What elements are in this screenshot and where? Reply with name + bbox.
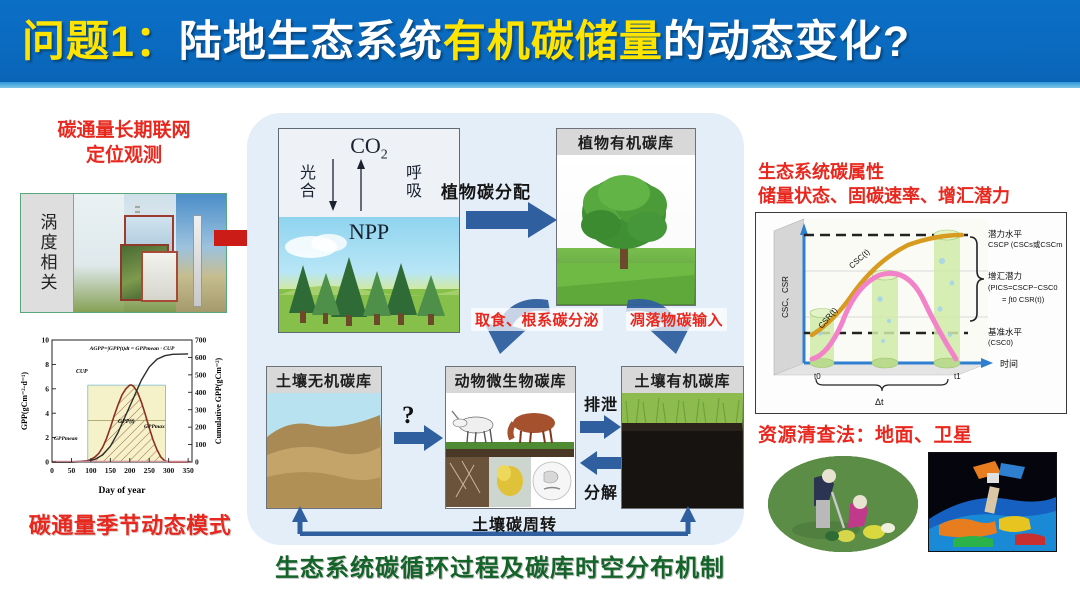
gpp-annot-cup: CUP [76, 369, 88, 375]
page-title: 问题1：陆地生态系统有机碳储量的动态变化? [22, 12, 1062, 74]
carbon-attributes-line2: 储量状态、固碳速率、增汇潜力 [758, 184, 1078, 208]
svg-text:300: 300 [195, 405, 207, 414]
csc-csr-svg: 潜力水平 CSCP (CSCs或CSCmax) 增汇潜力 (PICS=CSCP−… [756, 213, 1063, 410]
sink-potential-label-3: = ∫t0 CSR(t)) [1002, 295, 1045, 304]
plant-allocation-arrow [466, 200, 558, 240]
base-level-label-2: (CSC0) [988, 338, 1014, 347]
carbon-attributes-line1: 生态系统碳属性 [758, 160, 1078, 184]
svg-text:0: 0 [45, 458, 49, 467]
flux-tower-mast-2 [193, 215, 202, 307]
title-part-4: 的动态变化? [663, 18, 910, 66]
excretion-label: 排泄 [584, 391, 618, 415]
soil-inorganic-carbon-pool-box: 土壤无机碳库 [266, 366, 382, 509]
eddy-caption-text: 涡度相关 [35, 213, 60, 293]
resource-inventory-heading: 资源清查法：地面、卫星 [758, 420, 1078, 447]
gpp-annot-gppt: GPP(t) [118, 418, 135, 425]
litter-input-label: 凋落物碳输入 [626, 308, 727, 331]
eddy-photo-collage [74, 194, 226, 312]
soil-organic-carbon-pool-box: 土壤有机碳库 [621, 366, 744, 509]
svg-text:350: 350 [182, 466, 194, 475]
respiration-label: 呼吸 [403, 165, 425, 201]
gpp-y2label: Cumulative GPP(gCm⁻²) [214, 357, 223, 444]
satellite-illustration [929, 453, 1056, 551]
t1-label: t1 [954, 372, 961, 381]
grazing-root-exudation-label: 取食、根系碳分泌 [471, 308, 603, 331]
grass-soil-illustration [622, 393, 742, 507]
npp-label: NPP [279, 219, 459, 245]
gpp-xlabel: Day of year [99, 486, 147, 496]
animal-microbe-caption: 动物微生物碳库 [446, 367, 575, 394]
gpp-equation: AGPP=∫GPP(t)dt = GPPmean · CUP [89, 345, 175, 352]
arid-soil-illustration [267, 393, 380, 507]
svg-text:200: 200 [195, 423, 207, 432]
svg-text:10: 10 [42, 336, 50, 345]
npp-box: CO2 光合 呼吸 [278, 128, 460, 333]
field-survey-illustration [768, 456, 918, 552]
svg-text:0: 0 [195, 458, 199, 467]
time-axis-label: 时间 [1000, 358, 1018, 369]
tree-illustration [557, 155, 694, 304]
soil-organic-image [622, 393, 743, 508]
eddy-covariance-photo: 涡度相关 [20, 193, 227, 313]
title-part-1: 问题1： [22, 18, 179, 66]
grazing-root-exudation-arrow [478, 292, 556, 370]
soil-organic-caption: 土壤有机碳库 [622, 367, 743, 394]
sink-potential-label-2: (PICS=CSCP−CSC0 [988, 283, 1058, 292]
svg-text:2: 2 [45, 433, 49, 442]
carbon-cycle-caption: 生态系统碳循环过程及碳库时空分布机制 [250, 548, 750, 583]
gpp-annot-gppmax: GPPmax [144, 424, 165, 430]
base-level-label-1: 基准水平 [988, 327, 1023, 337]
title-part-2: 陆地生态系统 [179, 18, 443, 66]
flux-seasonal-caption: 碳通量季节动态模式 [14, 508, 246, 540]
svg-text:400: 400 [195, 388, 207, 397]
gpp-chart-svg: 0501001502002503003500246810010020030040… [14, 330, 236, 502]
potential-level-label-1: 潜力水平 [988, 229, 1023, 239]
decomposition-arrow [580, 450, 622, 476]
carbon-attributes-heading: 生态系统碳属性 储量状态、固碳速率、增汇潜力 [758, 160, 1078, 208]
csc-csr-3d-figure: 潜力水平 CSCP (CSCs或CSCmax) 增汇潜力 (PICS=CSCP−… [755, 212, 1067, 414]
tower-panel-left [74, 194, 124, 312]
title-part-3: 有机碳储量 [443, 18, 663, 66]
photo-inset-sensor [141, 251, 178, 302]
plant-box-caption: 植物有机碳库 [557, 129, 695, 156]
npp-exchange-arrows [319, 157, 385, 213]
npp-box-top: CO2 光合 呼吸 [279, 129, 459, 217]
eddy-caption-strip: 涡度相关 [21, 194, 74, 312]
flux-heading-line2: 定位观测 [24, 143, 224, 168]
t0-label: t0 [814, 372, 821, 381]
animal-microbe-image [446, 393, 575, 508]
sink-potential-label-1: 增汇潜力 [988, 271, 1022, 281]
header-underline [0, 82, 1080, 88]
svg-text:300: 300 [163, 466, 175, 475]
question-mark-label: ? [402, 402, 415, 430]
gpp-seasonal-chart: 0501001502002503003500246810010020030040… [14, 330, 236, 502]
svg-text:8: 8 [45, 360, 49, 369]
animal-microbe-carbon-pool-box: 动物微生物碳库 [445, 366, 576, 509]
fauna-microbe-illustration [446, 393, 574, 507]
svg-text:600: 600 [195, 353, 207, 362]
svg-text:100: 100 [85, 466, 97, 475]
svg-text:50: 50 [68, 466, 76, 475]
photosynthesis-label: 光合 [297, 165, 319, 201]
gpp-annot-gppmean: GPPmean [54, 436, 78, 442]
field-survey-photo [768, 456, 918, 552]
soil-carbon-turnover-label: 土壤碳周转 [472, 511, 557, 535]
soil-inorganic-image [267, 393, 381, 508]
soil-inorganic-caption: 土壤无机碳库 [267, 367, 381, 394]
gpp-ylabel: GPP(gCm⁻²·d⁻¹) [20, 372, 29, 430]
svg-text:200: 200 [124, 466, 135, 475]
svg-text:6: 6 [45, 384, 49, 393]
svg-text:500: 500 [195, 370, 207, 379]
decomposition-label: 分解 [584, 479, 618, 503]
svg-text:0: 0 [50, 466, 54, 475]
plant-box-image [557, 155, 695, 305]
flux-observation-heading: 碳通量长期联网 定位观测 [24, 118, 224, 168]
excretion-arrow [580, 414, 622, 440]
slide-root: 问题1：陆地生态系统有机碳储量的动态变化? 碳通量长期联网 定位观测 涡度相关 [0, 0, 1080, 603]
svg-text:4: 4 [45, 409, 49, 418]
satellite-remote-sensing-photo [928, 452, 1057, 552]
litter-carbon-input-arrow [620, 292, 698, 370]
svg-text:700: 700 [195, 336, 207, 345]
plant-organic-carbon-pool-box: 植物有机碳库 [556, 128, 696, 306]
svg-text:150: 150 [105, 466, 117, 475]
plant-allocation-label: 植物碳分配 [441, 178, 531, 203]
delta-t-label: Δt [875, 397, 884, 407]
svg-text:100: 100 [195, 440, 207, 449]
potential-level-label-2: CSCP (CSCs或CSCmax) [988, 239, 1063, 249]
delta-t-brace [816, 379, 948, 391]
carbon-stock-cylinder-2 [872, 270, 898, 368]
flux-heading-line1: 碳通量长期联网 [24, 118, 224, 143]
csc-csr-axis-label: CSC、CSR [781, 276, 790, 318]
svg-text:250: 250 [144, 466, 156, 475]
